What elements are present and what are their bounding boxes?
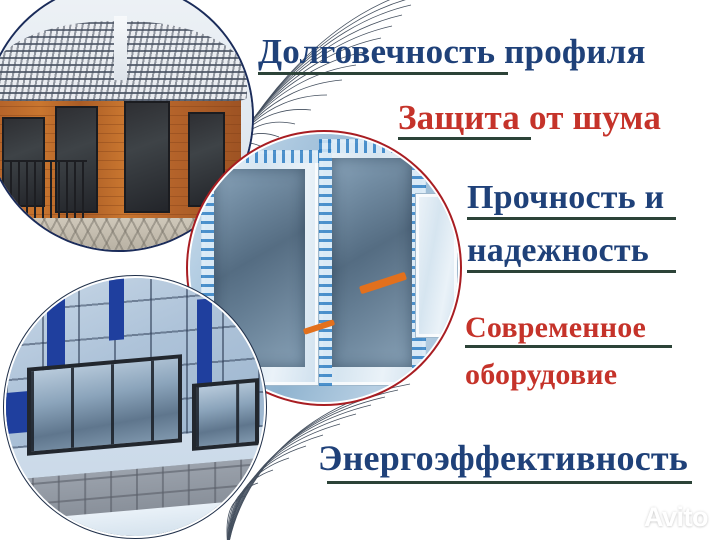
slogan-energy-efficiency: Энергоэффективность: [318, 440, 688, 476]
slogan-modern-equipment-line1: Современное: [465, 313, 646, 343]
slogan-underline-7: [327, 481, 692, 484]
facade-building-photo: [6, 278, 264, 536]
slogan-underline-1: [258, 72, 508, 75]
slogan-underline-3: [467, 217, 676, 220]
photo-circle-facade-building: [6, 278, 264, 536]
house-window: [124, 101, 169, 213]
slogan-modern-equipment-line2: оборудовие: [465, 360, 617, 390]
house-corner-post: [114, 16, 127, 80]
avito-wordmark: Avito: [644, 504, 708, 531]
slogan-underline-5: [465, 345, 672, 348]
slogan-durability: Долговечность профиля: [258, 34, 646, 69]
avito-dots-icon: [610, 505, 640, 531]
veka-protective-tape: [201, 150, 319, 163]
slogan-reliability: надежность: [467, 234, 649, 268]
facade-panoramic-window: [27, 354, 182, 455]
house-balcony-railing: [2, 160, 87, 221]
slogan-underline-2: [398, 137, 531, 140]
facade-blue-accent: [109, 278, 124, 341]
window-glazing: [332, 158, 412, 367]
veka-protective-tape: [319, 139, 426, 152]
veka-protective-tape: [319, 139, 332, 386]
facade-blue-accent: [6, 390, 29, 433]
facade-panoramic-window: [192, 378, 259, 451]
avito-watermark: Avito: [610, 504, 708, 531]
slogan-noise-protection: Защита от шума: [398, 100, 661, 135]
slogan-underline-4: [467, 270, 676, 273]
slogan-strength: Прочность и: [467, 181, 664, 215]
pvc-window-unit: [415, 193, 458, 338]
poster-canvas: Долговечность профиля Защита от шума Про…: [0, 0, 720, 540]
